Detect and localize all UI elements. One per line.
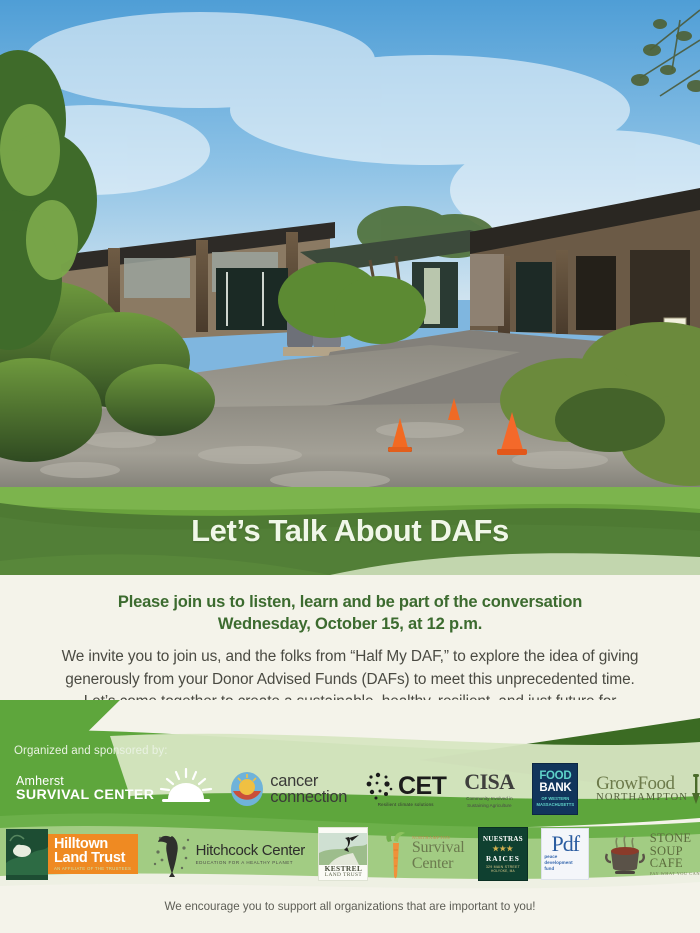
sponsor-section: Organized and sponsored by: Amherst SURV…: [0, 700, 700, 933]
nuestras-line-2: RAICES: [486, 854, 520, 863]
nuestras-line-1: NUESTRAS: [483, 835, 523, 843]
header-photo: [0, 0, 700, 497]
sunburst-icon: [158, 768, 214, 804]
cet-tagline: Resilient climate solutions: [378, 802, 434, 807]
foodbank-line-3: OF WESTERN MASSACHUSETTS: [536, 796, 574, 807]
cisa-tagline: Community Involved in Sustaining Agricul…: [466, 796, 512, 810]
bird-icon: [152, 830, 192, 878]
lead-line-1: Please join us to listen, learn and be p…: [48, 591, 652, 613]
logo-northampton-survival-center[interactable]: NORTHAMPTON Survival Center: [382, 828, 465, 880]
cancer-line-2: connection: [270, 789, 347, 806]
foodbank-line-2: BANK: [539, 782, 571, 794]
nuestras-emblem: ★★★: [492, 844, 513, 853]
logo-cet[interactable]: CET Resilient climate solutions: [365, 771, 447, 807]
pdf-line-2: peace development fund: [540, 854, 590, 873]
cet-word: CET: [398, 772, 447, 801]
growfood-line-1: GrowFood: [596, 774, 688, 793]
cisa-word: CISA: [464, 769, 514, 795]
sponsor-row-1: Amherst SURVIVAL CENTER: [0, 760, 700, 818]
logo-hilltown-land-trust[interactable]: Hilltown Land Trust AN AFFILIATE OF THE …: [6, 831, 138, 877]
lead-text: Please join us to listen, learn and be p…: [0, 591, 700, 635]
kestrel-line-2: LAND TRUST: [325, 873, 363, 878]
cancer-connection-text: cancer connection: [270, 773, 347, 806]
footer-note: We encourage you to support all organiza…: [0, 900, 700, 913]
poster-root: Let’s Talk About DAFs Please join us to …: [0, 0, 700, 933]
pdf-line-1: Pdf: [552, 835, 580, 854]
sunrise-circle-icon: [230, 771, 264, 807]
photo-illustration: [0, 0, 700, 497]
hilltown-line-1: Hilltown: [54, 837, 131, 852]
stone-line-3: CAFE: [650, 857, 700, 870]
soup-pot-icon: [603, 832, 647, 876]
hitchcock-line-2: EDUCATION FOR A HEALTHY PLANET: [196, 861, 305, 866]
nsc-line-1: Survival: [412, 840, 465, 856]
landscape-icon: [6, 829, 48, 880]
shovel-icon: [690, 773, 700, 805]
stone-line-1: STONE: [650, 832, 700, 845]
logo-grow-food-northampton[interactable]: GrowFood NORTHAMPTON: [596, 773, 700, 805]
logo-nuestras-raices[interactable]: NUESTRAS ★★★ RAICES 329 MAIN STREET HOLY…: [478, 827, 528, 881]
logo-cisa[interactable]: CISA Community Involved in Sustaining Ag…: [464, 769, 514, 810]
hilltown-line-2: Land Trust: [54, 851, 131, 866]
banner-title: Let’s Talk About DAFs: [0, 487, 700, 575]
dots-cluster-icon: [365, 771, 395, 801]
page-title: Let’s Talk About DAFs: [191, 513, 509, 549]
cancer-line-1: cancer: [270, 773, 347, 790]
sponsors-label: Organized and sponsored by:: [14, 745, 168, 757]
hitchcock-line-1: Hitchcock Center: [196, 843, 305, 859]
amherst-line-2: SURVIVAL CENTER: [16, 788, 154, 803]
logo-food-bank-western-mass[interactable]: FOOD BANK OF WESTERN MASSACHUSETTS: [532, 763, 578, 815]
foodbank-line-1: FOOD: [539, 771, 571, 783]
growfood-line-2: NORTHAMPTON: [596, 793, 688, 804]
logo-cancer-connection[interactable]: cancer connection: [230, 771, 347, 807]
carrot-icon: [382, 828, 408, 880]
kestrel-bird-icon: [319, 833, 367, 865]
sponsor-row-2: Hilltown Land Trust AN AFFILIATE OF THE …: [0, 825, 700, 883]
hilltown-line-3: AN AFFILIATE OF THE TRUSTEES: [54, 867, 131, 871]
logo-peace-development-fund[interactable]: Pdf peace development fund: [541, 828, 589, 880]
nuestras-line-4: HOLYOKE, MA: [491, 869, 515, 873]
logo-hitchcock-center[interactable]: Hitchcock Center EDUCATION FOR A HEALTHY…: [152, 830, 305, 878]
stone-line-4: PAY WHAT YOU CAN: [650, 872, 700, 876]
logo-amherst-survival-center[interactable]: Amherst SURVIVAL CENTER: [8, 775, 212, 803]
logo-stone-soup-cafe[interactable]: STONE SOUP CAFE PAY WHAT YOU CAN: [603, 832, 700, 876]
nsc-line-2: Center: [412, 856, 465, 872]
lead-line-2: Wednesday, October 15, at 12 p.m.: [48, 613, 652, 635]
logo-kestrel-land-trust[interactable]: KESTREL LAND TRUST: [318, 827, 368, 881]
